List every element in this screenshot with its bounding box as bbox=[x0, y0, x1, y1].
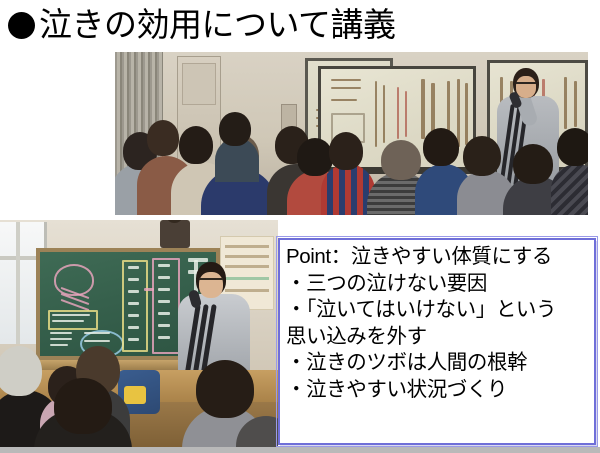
lecture-hall-photo bbox=[115, 52, 588, 215]
speaker-glasses bbox=[199, 278, 223, 286]
bottom-divider-strip bbox=[0, 447, 600, 453]
audience-head bbox=[557, 128, 588, 166]
point-line: ・「泣いてはいけない」という bbox=[286, 297, 592, 324]
point-line: ・泣きのツボは人間の根幹 bbox=[286, 350, 592, 377]
audience-head bbox=[54, 378, 112, 434]
speaker-glasses bbox=[516, 82, 536, 89]
point-line: ・泣きやすい状況づくり bbox=[286, 377, 592, 404]
audience-head bbox=[463, 136, 501, 176]
audience-head bbox=[297, 138, 333, 176]
filled-circle-bullet-icon bbox=[8, 12, 35, 39]
audience-head bbox=[423, 128, 459, 166]
slide-canvas: 泣きの効用について講義 bbox=[0, 0, 600, 453]
page-title-text: 泣きの効用について講義 bbox=[39, 7, 396, 43]
point-callout-text: Point：泣きやすい体質にする ・三つの泣けない要因 ・「泣いてはいけない」と… bbox=[286, 244, 592, 403]
audience-head bbox=[179, 126, 213, 164]
audience-head bbox=[196, 360, 254, 418]
audience-head bbox=[513, 144, 553, 184]
audience-head bbox=[219, 112, 251, 146]
lecture-hall-scene bbox=[115, 52, 588, 215]
point-callout-box: Point：泣きやすい体質にする ・三つの泣けない要因 ・「泣いてはいけない」と… bbox=[278, 238, 596, 445]
audience-head bbox=[329, 132, 363, 170]
audience-head bbox=[147, 120, 179, 156]
point-line: ・三つの泣けない要因 bbox=[286, 271, 592, 298]
ceiling-speaker bbox=[160, 220, 190, 248]
audience-head bbox=[0, 346, 42, 396]
classroom-photo bbox=[0, 220, 278, 447]
point-line: Point：泣きやすい体質にする bbox=[286, 244, 592, 271]
page-title: 泣きの効用について講義 bbox=[8, 2, 396, 48]
audience-head bbox=[381, 140, 421, 180]
point-line: 思い込みを外す bbox=[286, 324, 592, 351]
